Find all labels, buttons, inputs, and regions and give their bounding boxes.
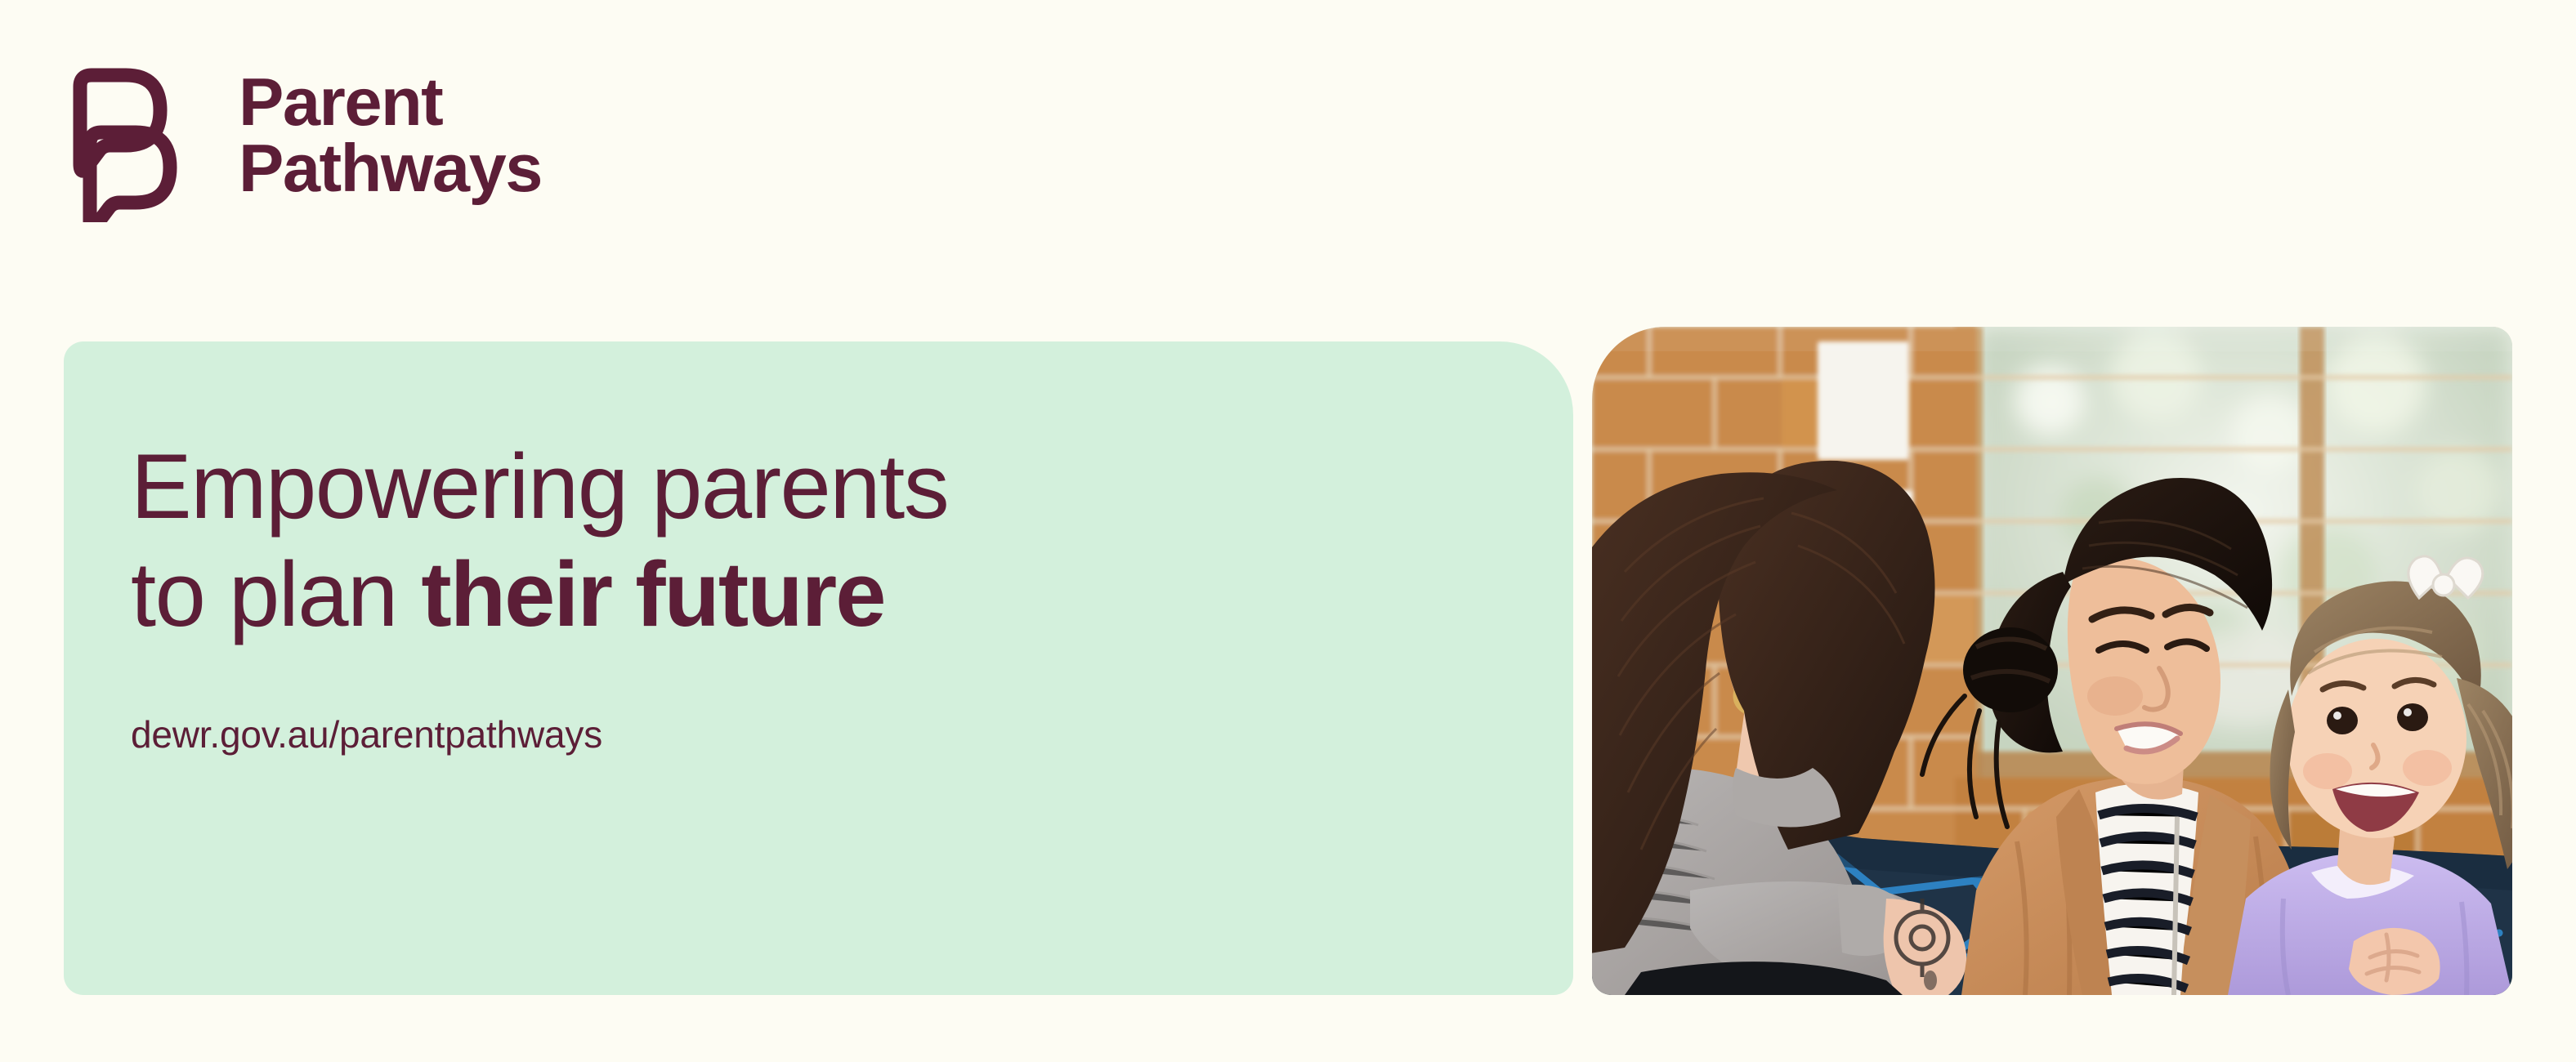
brand-wordmark: Parent Pathways xyxy=(239,59,542,202)
photo-illustration xyxy=(1592,327,2512,995)
banner-root: Parent Pathways Empowering parents to pl… xyxy=(0,0,2576,1062)
hero-content: Empowering parents to plan their future … xyxy=(131,433,1516,756)
brand-name-line-2: Pathways xyxy=(239,135,542,201)
page-title: Empowering parents to plan their future xyxy=(131,433,1516,649)
brand-name-line-1: Parent xyxy=(239,69,542,135)
speech-bubble-pair-icon xyxy=(64,59,217,222)
brand-logo[interactable]: Parent Pathways xyxy=(64,59,542,222)
hero-photograph xyxy=(1592,327,2512,995)
headline-bold-text: their future xyxy=(421,543,884,645)
website-url[interactable]: dewr.gov.au/parentpathways xyxy=(131,712,1516,756)
hero-card: Empowering parents to plan their future … xyxy=(64,341,1573,995)
